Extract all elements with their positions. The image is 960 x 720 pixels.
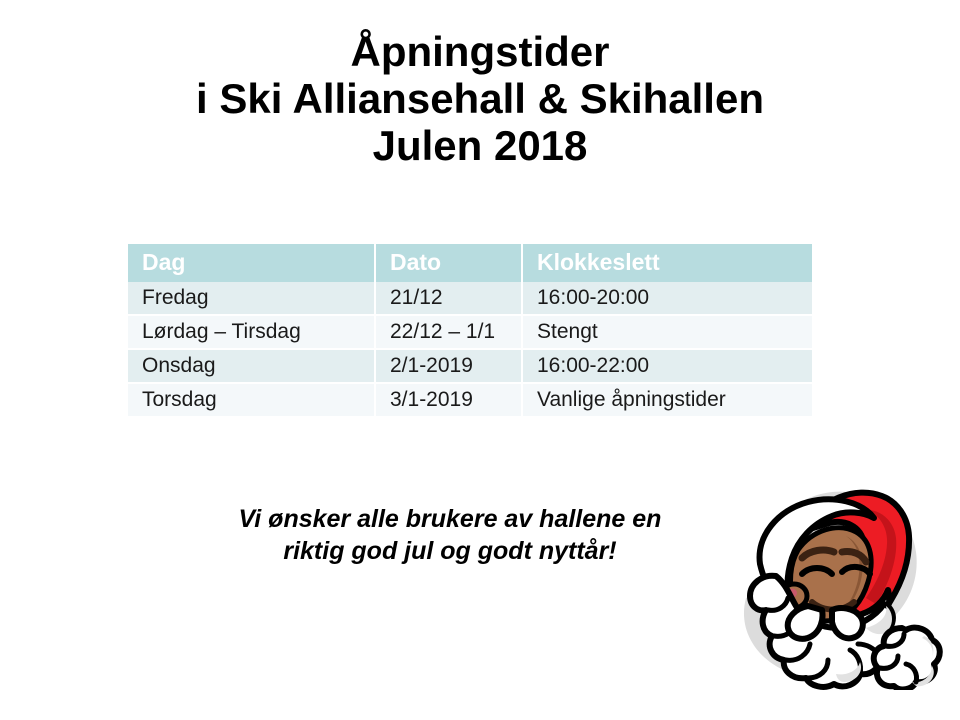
cell-date: 21/12 (375, 282, 522, 315)
greeting-line-1: Vi ønsker alle brukere av hallene en (150, 503, 750, 535)
greeting-line-2: riktig god jul og godt nyttår! (150, 535, 750, 567)
column-header-time: Klokkeslett (522, 244, 812, 282)
page-title: Åpningstider i Ski Alliansehall & Skihal… (0, 28, 960, 169)
table-body: Fredag 21/12 16:00-20:00 Lørdag – Tirsda… (128, 282, 812, 416)
cell-time: 16:00-22:00 (522, 349, 812, 383)
cell-day: Onsdag (128, 349, 375, 383)
title-line-3: Julen 2018 (0, 122, 960, 169)
opening-hours-table: Dag Dato Klokkeslett Fredag 21/12 16:00-… (128, 244, 812, 416)
table-row: Fredag 21/12 16:00-20:00 (128, 282, 812, 315)
table-header: Dag Dato Klokkeslett (128, 244, 812, 282)
santa-claus-drawing (716, 478, 960, 690)
cell-time: 16:00-20:00 (522, 282, 812, 315)
cell-day: Lørdag – Tirsdag (128, 315, 375, 349)
slide-canvas: Åpningstider i Ski Alliansehall & Skihal… (0, 0, 960, 720)
cell-time: Stengt (522, 315, 812, 349)
title-line-2: i Ski Alliansehall & Skihallen (0, 75, 960, 122)
column-header-day: Dag (128, 244, 375, 282)
cell-day: Torsdag (128, 383, 375, 416)
column-header-date: Dato (375, 244, 522, 282)
greeting-message: Vi ønsker alle brukere av hallene en rik… (150, 503, 750, 567)
cell-date: 22/12 – 1/1 (375, 315, 522, 349)
cell-day: Fredag (128, 282, 375, 315)
santa-claus-icon (716, 478, 960, 690)
santa-hat-pompom (874, 628, 940, 690)
cell-time: Vanlige åpningstider (522, 383, 812, 416)
table-row: Torsdag 3/1-2019 Vanlige åpningstider (128, 383, 812, 416)
title-line-1: Åpningstider (0, 28, 960, 75)
table-header-row: Dag Dato Klokkeslett (128, 244, 812, 282)
table-row: Onsdag 2/1-2019 16:00-22:00 (128, 349, 812, 383)
table-row: Lørdag – Tirsdag 22/12 – 1/1 Stengt (128, 315, 812, 349)
cell-date: 3/1-2019 (375, 383, 522, 416)
cell-date: 2/1-2019 (375, 349, 522, 383)
